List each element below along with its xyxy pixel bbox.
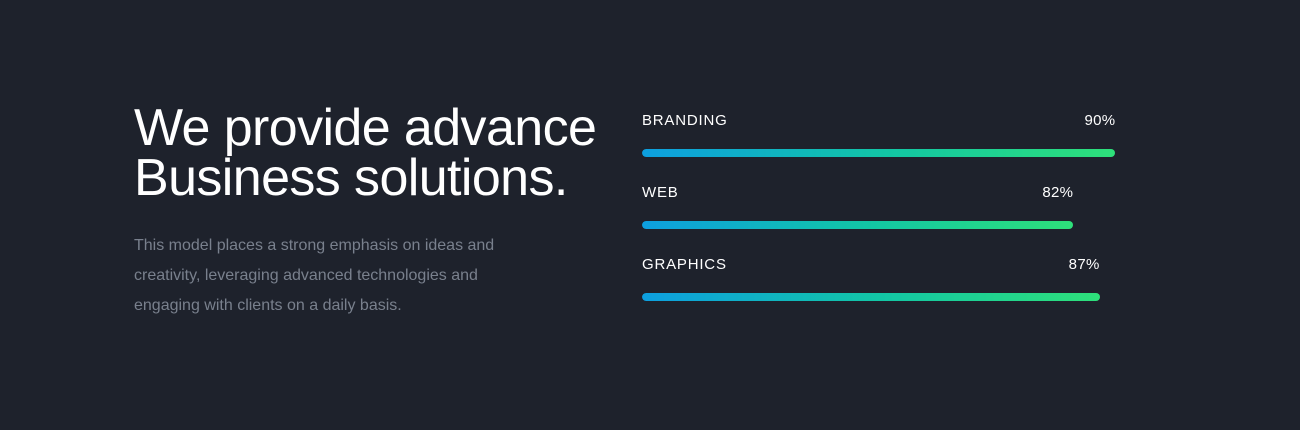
skill-header: BRANDING 90% <box>642 112 1168 132</box>
skill-row-graphics: GRAPHICS 87% <box>642 256 1168 328</box>
skill-header: GRAPHICS 87% <box>642 256 1168 276</box>
skill-progress-fill <box>642 221 1073 229</box>
skill-label: WEB <box>642 184 679 201</box>
skill-progress-fill <box>642 149 1115 157</box>
skills-section: We provide advance Business solutions. T… <box>0 0 1300 430</box>
skill-progress-track <box>642 149 1168 157</box>
intro-paragraph: This model places a strong emphasis on i… <box>134 231 534 321</box>
skill-percentage: 82% <box>1042 184 1073 201</box>
skill-progress-fill <box>642 293 1100 301</box>
skill-progress-track <box>642 293 1168 301</box>
intro-block: We provide advance Business solutions. T… <box>134 103 604 321</box>
skill-row-branding: BRANDING 90% <box>642 112 1168 184</box>
skill-progress-track <box>642 221 1168 229</box>
skill-bar-list: BRANDING 90% WEB 82% GRAPHICS 87% <box>642 112 1168 328</box>
skill-row-web: WEB 82% <box>642 184 1168 256</box>
skill-percentage: 90% <box>1084 112 1115 129</box>
skill-label: GRAPHICS <box>642 256 727 273</box>
skill-percentage: 87% <box>1069 256 1100 273</box>
skill-header: WEB 82% <box>642 184 1168 204</box>
page-title: We provide advance Business solutions. <box>134 103 604 203</box>
skill-label: BRANDING <box>642 112 728 129</box>
